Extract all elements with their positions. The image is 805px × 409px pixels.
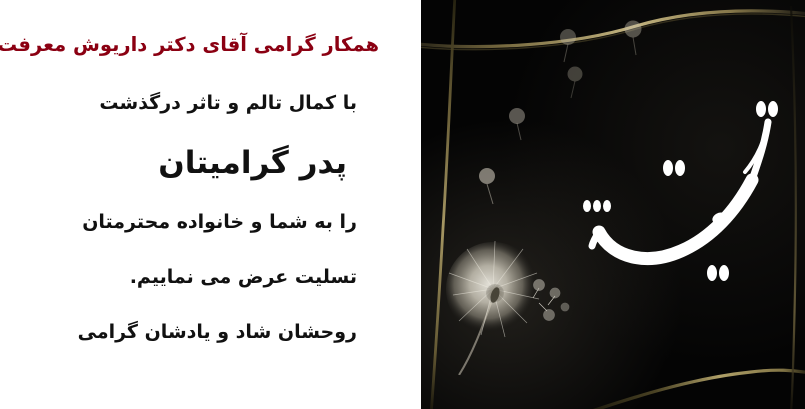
dandelion-icon xyxy=(433,225,583,375)
addressee-line: همکار گرامی آقای دکتر داریوش معرفت xyxy=(0,34,421,56)
dandelion-seed-icon xyxy=(551,24,585,64)
dandelion-seed-icon xyxy=(471,164,505,206)
dandelion-seed-icon xyxy=(501,104,533,142)
dandelion-seed-icon xyxy=(559,62,591,100)
text-panel: همکار گرامی آقای دکتر داریوش معرفت با کم… xyxy=(0,0,421,409)
offering-line: تسلیت عرض می نماییم. xyxy=(0,267,421,289)
condolence-image xyxy=(421,0,805,409)
condolence-card: همکار گرامی آقای دکتر داریوش معرفت با کم… xyxy=(0,0,805,409)
calligraphy-tasliat xyxy=(569,96,799,311)
dandelion-seed-icon xyxy=(616,16,650,56)
condolence-opening-line: با کمال تالم و تاثر درگذشت xyxy=(0,93,421,115)
blessing-line: روحشان شاد و یادشان گرامی xyxy=(0,322,421,344)
deceased-line: پدر گرامیتان xyxy=(0,146,421,182)
recipients-line: را به شما و خانواده محترمتان xyxy=(0,212,421,234)
